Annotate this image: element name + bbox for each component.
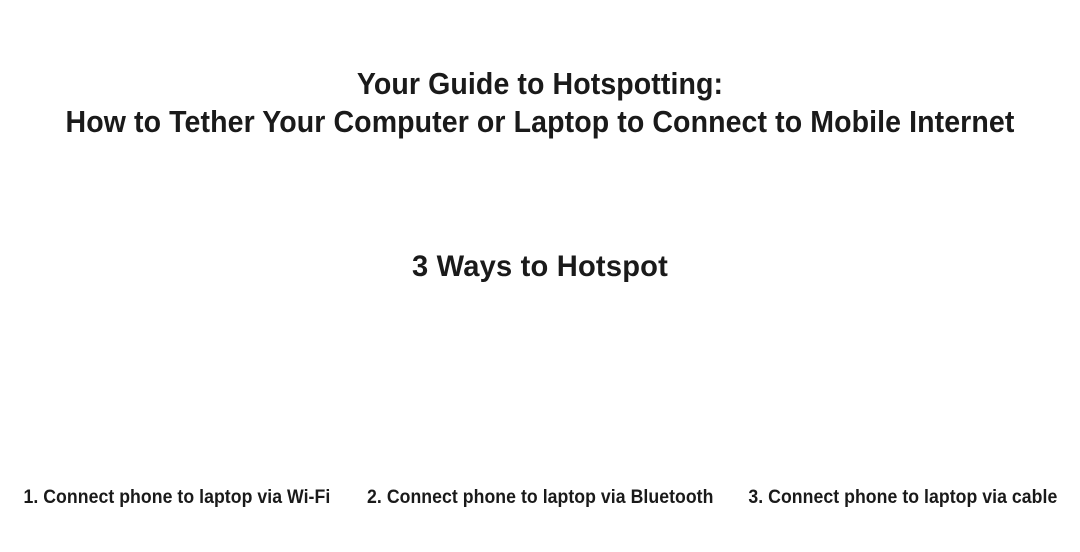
- method-caption-3: 3. Connect phone to laptop via cable: [739, 486, 1068, 510]
- page-title-line-2: How to Tether Your Computer or Laptop to…: [43, 103, 1037, 141]
- wifi-tether-illustration: [0, 280, 360, 476]
- illustration-band: [0, 280, 1080, 476]
- page-title: Your Guide to Hotspotting: How to Tether…: [43, 65, 1037, 141]
- method-caption-1: 1. Connect phone to laptop via Wi-Fi: [12, 486, 341, 510]
- bluetooth-tether-illustration: [360, 280, 720, 476]
- page-title-line-1: Your Guide to Hotspotting:: [43, 65, 1037, 103]
- method-caption-2: 2. Connect phone to laptop via Bluetooth: [367, 486, 713, 510]
- article-page: Your Guide to Hotspotting: How to Tether…: [0, 0, 1080, 552]
- cable-tether-illustration: [720, 280, 1080, 476]
- method-caption-row: 1. Connect phone to laptop via Wi-Fi 2. …: [0, 486, 1080, 510]
